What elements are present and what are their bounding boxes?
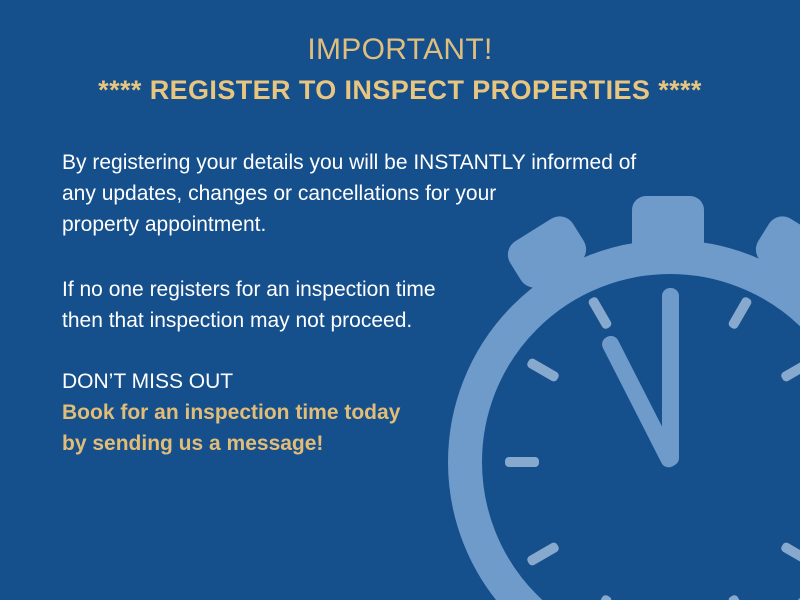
call-to-action-block: DON’T MISS OUT Book for an inspection ti… xyxy=(62,366,400,459)
body-paragraph-registering: By registering your details you will be … xyxy=(62,147,636,240)
headline-important: IMPORTANT! xyxy=(0,33,800,66)
cta-send-message: by sending us a message! xyxy=(62,428,400,459)
text-layer: IMPORTANT! **** REGISTER TO INSPECT PROP… xyxy=(0,0,800,600)
headline-register: **** REGISTER TO INSPECT PROPERTIES **** xyxy=(0,76,800,106)
body-paragraph-no-registration: If no one registers for an inspection ti… xyxy=(62,274,436,336)
cta-book-inspection: Book for an inspection time today xyxy=(62,397,400,428)
cta-dont-miss-out: DON’T MISS OUT xyxy=(62,366,400,397)
promotional-slide: IMPORTANT! **** REGISTER TO INSPECT PROP… xyxy=(0,0,800,600)
